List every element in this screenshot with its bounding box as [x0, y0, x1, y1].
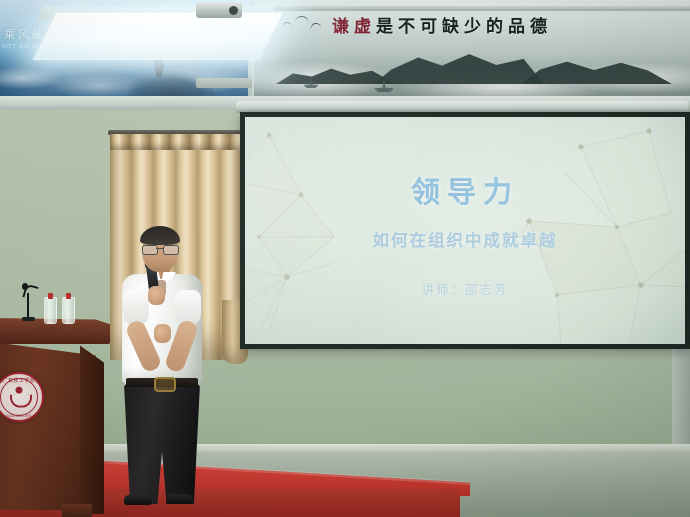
speaker-trousers	[124, 384, 200, 504]
wall-banner-rest: 是不可缺少的品德	[376, 17, 552, 37]
eyeglasses-icon	[141, 245, 179, 254]
mural-birds-icon	[282, 14, 330, 32]
slide-subtitle: 如何在组织中成就卓越	[245, 227, 685, 251]
slide-title: 领导力	[245, 169, 685, 211]
water-bottle	[44, 297, 57, 324]
slide-presenter: 讲师：邵志芳	[245, 279, 685, 298]
emblem-bottom-text: GUANGDONG	[0, 414, 42, 418]
lectern-base	[62, 504, 92, 517]
emblem-mark-icon	[9, 387, 29, 407]
wall-banner-text: 谦虚是不可缺少的品德	[332, 12, 552, 37]
curtain-pleats	[110, 134, 246, 150]
wall-mural-right: 谦虚是不可缺少的品德	[252, 0, 690, 96]
speaker-person	[110, 228, 214, 503]
emblem-top-text: 广东技工学校	[0, 377, 42, 384]
speaker-hand	[148, 286, 165, 305]
water-bottle	[62, 297, 75, 324]
speaker-belt-buckle	[154, 377, 176, 392]
speaker-shoe	[166, 494, 194, 504]
photo-scene: 乘风破浪 NOT DO ANYTHING 谦虚是不可缺少的品德	[0, 0, 690, 517]
speaker-hair	[140, 226, 180, 245]
speaker-shoe	[124, 495, 152, 505]
projection-screen-surface: 领导力 如何在组织中成就卓越 讲师：邵志芳	[245, 117, 685, 344]
projection-screen-frame: 领导力 如何在组织中成就卓越 讲师：邵志芳	[240, 112, 690, 349]
ceiling-projector	[196, 2, 242, 18]
lectern-side	[80, 342, 104, 514]
ceiling: 乘风破浪 NOT DO ANYTHING 谦虚是不可缺少的品德	[0, 0, 690, 104]
ceiling-rail	[250, 6, 690, 11]
wall-banner-accent: 谦虚	[332, 17, 376, 37]
speaker-hand	[154, 324, 171, 343]
led-panel-light	[32, 12, 283, 60]
ceiling-duct	[196, 78, 252, 88]
projector-lens-icon	[229, 6, 238, 15]
school-emblem-icon: 广东技工学校 GUANGDONG	[0, 372, 44, 422]
wooden-lectern: 广东技工学校 GUANGDONG	[0, 318, 110, 508]
